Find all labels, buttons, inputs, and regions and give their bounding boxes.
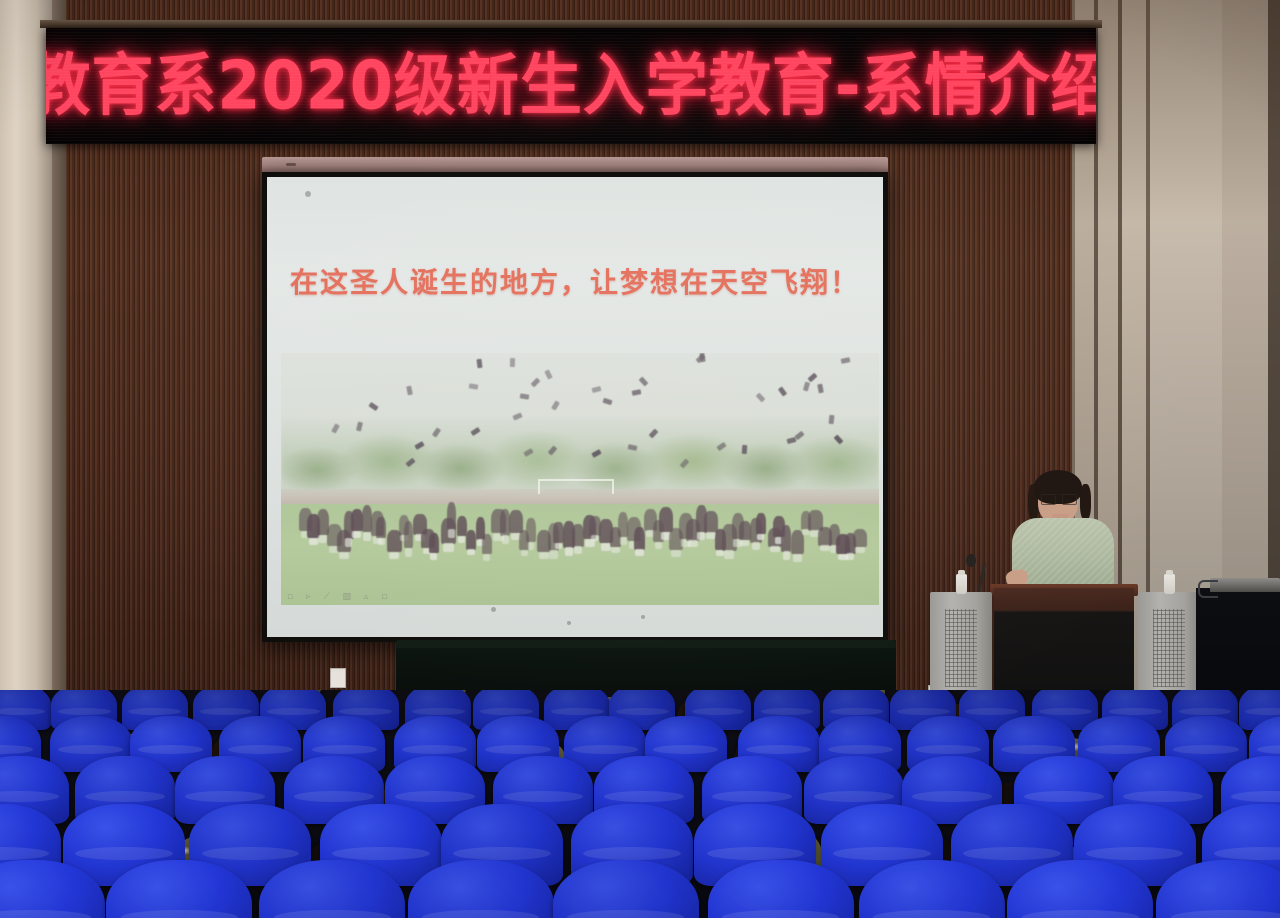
photo-graduate xyxy=(756,513,766,534)
presenter-glasses xyxy=(1041,494,1075,503)
photo-graduate xyxy=(376,517,386,538)
loudspeaker-grille xyxy=(1153,609,1185,687)
screen-speck xyxy=(305,191,311,197)
photo-graduate xyxy=(704,511,718,533)
photo-graduate xyxy=(853,529,867,547)
slide-graduation-photo: ▫ ▹ ⟋ ▨ ▵ ▫ xyxy=(281,353,879,605)
water-bottle-left xyxy=(956,574,967,594)
screen-speck xyxy=(641,615,645,619)
photo-graduate xyxy=(429,533,438,554)
projector-screen-roller-marking xyxy=(286,163,296,166)
photo-goalpost xyxy=(538,479,614,494)
slide-headline-text: 在这圣人诞生的地方，让梦想在天空飞翔！ xyxy=(267,261,883,301)
audience-seating-area xyxy=(0,690,1280,918)
gooseneck-microphone-head xyxy=(966,554,976,567)
photo-graduate xyxy=(739,521,751,541)
stage-backdrop-lip xyxy=(396,640,896,648)
photo-thrown-cap xyxy=(510,358,515,367)
photo-graduate xyxy=(526,518,535,543)
av-equipment-top-panel xyxy=(1210,578,1280,592)
led-banner-text: 教育系2020级新生入学教育-系情介绍 xyxy=(46,53,1096,120)
right-loudspeaker-cabinet xyxy=(1138,592,1200,700)
projection-screen-frame: 在这圣人诞生的地方，让梦想在天空飞翔！ ▫ ▹ ⟋ ▨ ▵ ▫ xyxy=(262,172,888,642)
female-presenter xyxy=(1008,470,1118,600)
projection-screen-surface: 在这圣人诞生的地方，让梦想在天空飞翔！ ▫ ▹ ⟋ ▨ ▵ ▫ xyxy=(267,177,883,637)
screen-speck xyxy=(491,607,496,612)
led-scrolling-banner: 教育系2020级新生入学教育-系情介绍 xyxy=(46,28,1096,144)
left-loudspeaker-cabinet xyxy=(930,592,992,700)
photo-thrown-cap xyxy=(828,415,834,424)
av-equipment-handle xyxy=(1198,580,1218,598)
banner-frame xyxy=(40,20,1102,28)
photo-graduate xyxy=(482,534,492,554)
water-bottle-right xyxy=(1164,574,1175,594)
water-bottle-left-cap xyxy=(958,570,965,575)
screen-speck xyxy=(567,621,571,625)
loudspeaker-grille xyxy=(945,609,977,687)
photo-graduate xyxy=(572,524,584,547)
photo-graduate xyxy=(466,530,476,549)
photo-graduate xyxy=(447,502,456,530)
photo-graduate xyxy=(553,522,563,543)
photo-graduate xyxy=(404,521,413,548)
projector-screen-roller[interactable] xyxy=(262,157,888,173)
wall-notice-placard xyxy=(330,668,346,688)
water-bottle-right-cap xyxy=(1166,570,1173,575)
auditorium-scene: 教育系2020级新生入学教育-系情介绍 在这圣人诞生的地方，让梦想在天空飞翔！ … xyxy=(0,0,1280,918)
photo-graduate xyxy=(457,516,467,536)
photo-thrown-cap xyxy=(741,445,747,454)
photo-graduate xyxy=(781,525,791,552)
photo-corner-icons: ▫ ▹ ⟋ ▨ ▵ ▫ xyxy=(287,592,392,602)
